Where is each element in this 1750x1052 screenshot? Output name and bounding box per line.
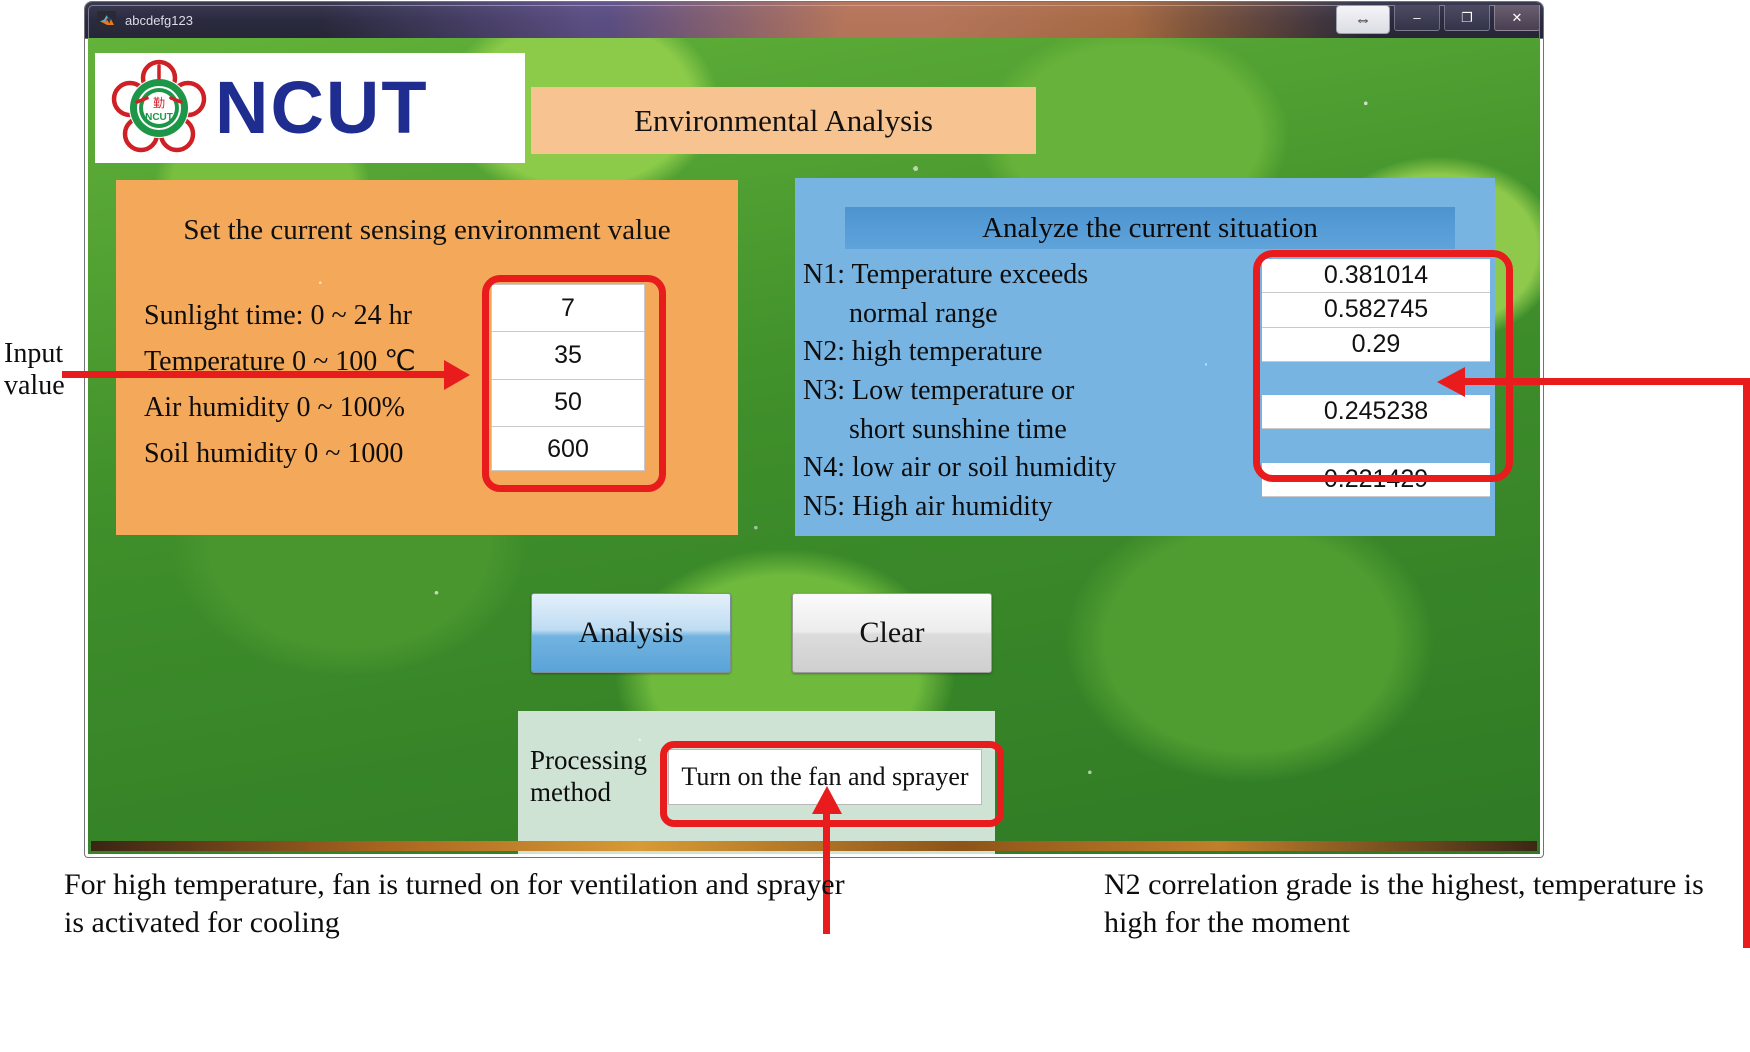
analysis-panel: Analyze the current situation N1: Temper… <box>795 178 1495 536</box>
label-soil-humidity: Soil humidity 0 ~ 1000 <box>144 431 416 477</box>
grade-cell-n5[interactable]: 0.221429 <box>1262 463 1490 497</box>
input-range-labels: Sunlight time: 0 ~ 24 hr Temperature 0 ~… <box>144 293 416 477</box>
arrow-grade-shaft-vertical <box>1743 378 1750 948</box>
arrow-input-value-shaft <box>62 371 452 378</box>
window-controls: ⇔ – ❐ ✕ <box>1336 2 1543 38</box>
window-client-area: 勤 NCUT NCUT Environmental Analysis Set t… <box>88 38 1540 854</box>
minimize-button[interactable]: – <box>1394 5 1440 31</box>
clear-button[interactable]: Clear <box>792 593 992 673</box>
arrow-processing-head <box>812 786 842 814</box>
input-cell-temperature[interactable]: 35 <box>492 332 644 379</box>
label-sunlight-time: Sunlight time: 0 ~ 24 hr <box>144 293 416 339</box>
rule-n5: N5: High air humidity <box>803 488 1116 527</box>
rule-n1-line2: normal range <box>803 295 1116 334</box>
grade-cell-n2[interactable]: 0.582745 <box>1262 293 1490 327</box>
title-bar-frame <box>88 5 1540 38</box>
maximize-button[interactable]: ❐ <box>1444 5 1490 31</box>
resize-button[interactable]: ⇔ <box>1336 5 1390 34</box>
grade-spacer-row-2 <box>1262 429 1490 462</box>
input-cell-sunlight-time[interactable]: 7 <box>492 285 644 332</box>
caption-right: N2 correlation grade is the highest, tem… <box>1104 866 1750 943</box>
ncut-logo: 勤 NCUT NCUT <box>95 53 525 163</box>
rule-n4: N4: low air or soil humidity <box>803 449 1116 488</box>
arrow-input-value-head <box>444 360 470 390</box>
rule-n3-line1: N3: Low temperature or <box>803 372 1116 411</box>
close-button[interactable]: ✕ <box>1494 5 1540 31</box>
grade-cell-n1[interactable]: 0.381014 <box>1262 259 1490 293</box>
correlation-grade-table[interactable]: 0.381014 0.582745 0.29 0.245238 0.221429 <box>1262 259 1490 459</box>
arrow-grade-head <box>1437 367 1465 397</box>
rule-n2: N2: high temperature <box>803 333 1116 372</box>
application-window: abcdefg123 ⇔ – ❐ ✕ <box>85 2 1543 857</box>
caption-left: For high temperature, fan is turned on f… <box>64 866 854 943</box>
rule-n1-line1: N1: Temperature exceeds <box>803 256 1116 295</box>
analysis-button[interactable]: Analysis <box>531 593 731 673</box>
window-bottom-glow <box>91 841 1537 851</box>
processing-method-label: Processing method <box>530 745 665 809</box>
rule-n3-line2: short sunshine time <box>803 411 1116 450</box>
ncut-seal-icon: 勤 NCUT <box>107 56 211 160</box>
input-cell-soil-humidity[interactable]: 600 <box>492 427 644 473</box>
window-title: abcdefg123 <box>125 13 193 28</box>
svg-text:勤: 勤 <box>153 96 165 110</box>
matlab-icon <box>97 11 116 30</box>
header-title: Environmental Analysis <box>634 103 933 139</box>
input-panel-title: Set the current sensing environment valu… <box>116 214 738 247</box>
input-cell-air-humidity[interactable]: 50 <box>492 380 644 427</box>
processing-method-panel: Processing method Turn on the fan and sp… <box>518 711 995 854</box>
grade-cell-n3[interactable]: 0.29 <box>1262 328 1490 362</box>
analysis-rule-list: N1: Temperature exceeds normal range N2:… <box>803 256 1116 526</box>
arrow-grade-shaft-horizontal <box>1465 378 1750 385</box>
analysis-panel-title: Analyze the current situation <box>845 207 1455 249</box>
input-values-table[interactable]: 7 35 50 600 <box>491 284 645 471</box>
window-title-bar[interactable]: abcdefg123 ⇔ – ❐ ✕ <box>85 2 1543 39</box>
label-air-humidity: Air humidity 0 ~ 100% <box>144 385 416 431</box>
header-banner: Environmental Analysis <box>531 87 1036 154</box>
grade-cell-n4[interactable]: 0.245238 <box>1262 395 1490 429</box>
ncut-wordmark: NCUT <box>215 71 429 145</box>
svg-text:NCUT: NCUT <box>145 112 173 123</box>
input-panel: Set the current sensing environment valu… <box>116 180 738 535</box>
